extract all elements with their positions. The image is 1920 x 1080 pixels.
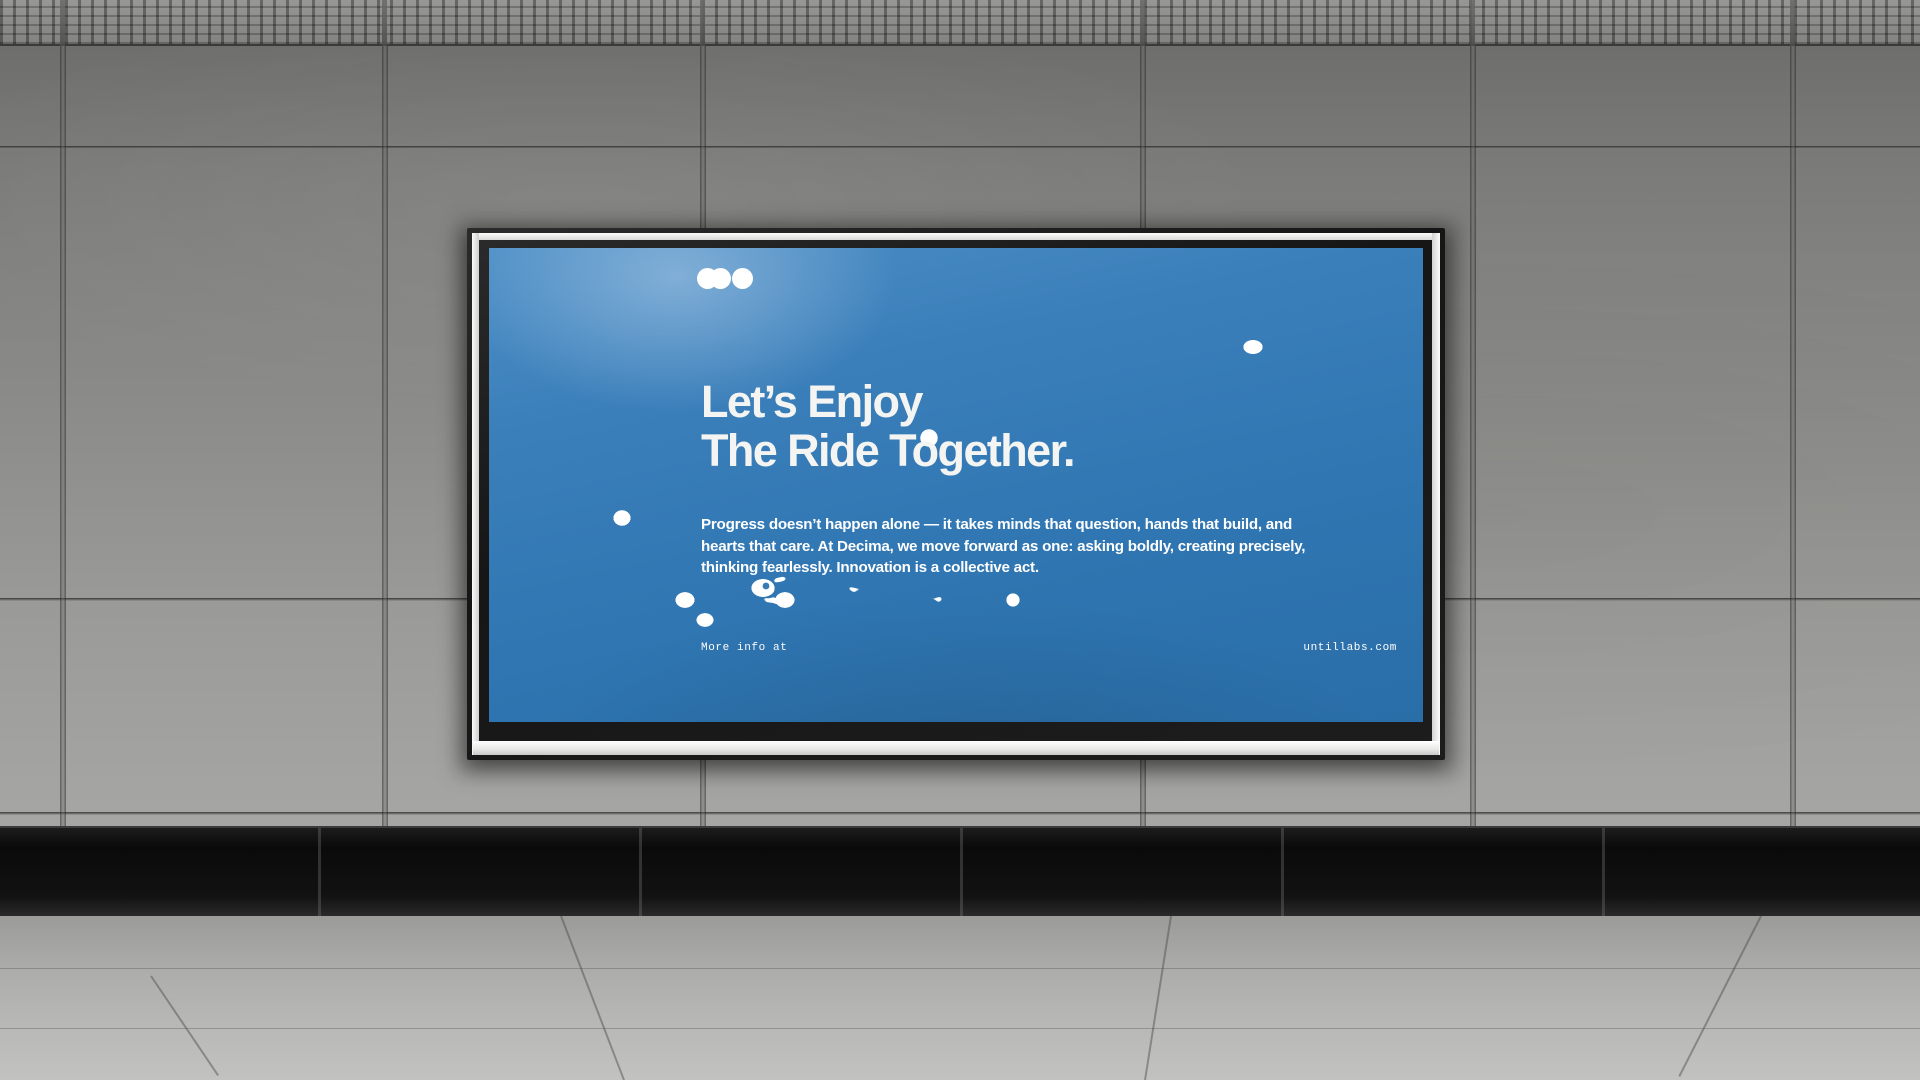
footer-website-url[interactable]: untillabs.com: [1303, 642, 1397, 654]
wall-seam-horizontal: [0, 812, 1920, 815]
wall-seam-vertical: [1470, 46, 1476, 826]
wall-seam-vertical: [1790, 46, 1796, 826]
logo-dot-2: [710, 268, 731, 289]
wall-baseboard: [0, 826, 1920, 916]
wall-seam-vertical: [382, 46, 388, 826]
headline-line-2: The Ride Together.: [701, 427, 1361, 476]
headline-line-1: Let’s Enjoy: [701, 376, 922, 427]
poster-body-copy: Progress doesn’t happen alone — it takes…: [701, 514, 1321, 579]
bezel-left-edge: [472, 233, 479, 755]
logo-three-dot-mark: [697, 266, 753, 290]
scene-root: Let’s Enjoy The Ride Together. Progress …: [0, 0, 1920, 1080]
poster-headline: Let’s Enjoy The Ride Together.: [701, 378, 1361, 475]
bezel-bottom-edge: [473, 741, 1439, 755]
poster-artwork[interactable]: Let’s Enjoy The Ride Together. Progress …: [489, 248, 1423, 722]
logo-dot-3: [732, 268, 753, 289]
ceiling-panels: [0, 0, 1920, 46]
network-graphic: [489, 248, 1423, 722]
tiled-floor: [0, 916, 1920, 1080]
bezel-right-edge: [1432, 233, 1440, 755]
billboard-lightbox[interactable]: Let’s Enjoy The Ride Together. Progress …: [467, 228, 1445, 760]
node-inner-dot: [763, 583, 770, 590]
wall-seam-horizontal: [0, 146, 1920, 149]
footer-more-info-label: More info at: [701, 642, 787, 654]
bezel-top-edge: [475, 233, 1437, 240]
wall-seam-vertical: [60, 46, 66, 826]
